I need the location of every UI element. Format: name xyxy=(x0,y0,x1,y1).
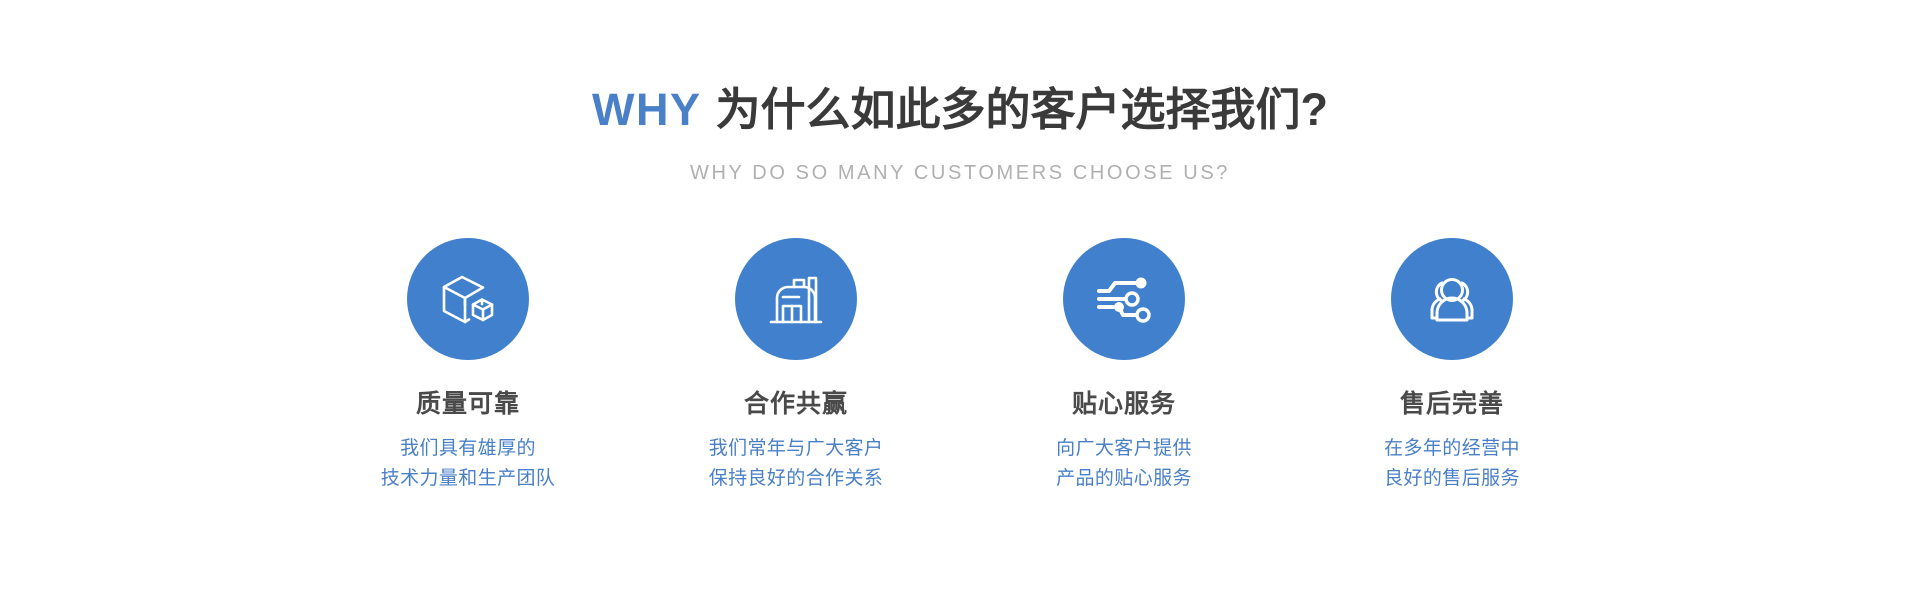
feature-desc-line-2: 良好的售后服务 xyxy=(1384,464,1520,494)
title-prefix-why: WHY xyxy=(592,84,702,135)
feature-title: 售后完善 xyxy=(1400,388,1504,420)
feature-desc-line-2: 保持良好的合作关系 xyxy=(709,464,884,494)
circuit-network-icon xyxy=(1091,266,1157,332)
feature-desc-line-2: 产品的贴心服务 xyxy=(1056,464,1192,494)
heading-block: WHY为什么如此多的客户选择我们? WHY DO SO MANY CUSTOME… xyxy=(0,82,1920,186)
feature-item-quality[interactable]: 质量可靠 我们具有雄厚的 技术力量和生产团队 xyxy=(304,238,632,494)
feature-desc-line-1: 我们具有雄厚的 xyxy=(381,434,556,464)
feature-description: 在多年的经营中 良好的售后服务 xyxy=(1384,434,1520,494)
feature-desc-line-1: 我们常年与广大客户 xyxy=(709,434,884,464)
page-title: WHY为什么如此多的客户选择我们? xyxy=(0,82,1920,138)
factory-icon xyxy=(763,266,829,332)
package-box-icon xyxy=(435,266,501,332)
feature-list: 质量可靠 我们具有雄厚的 技术力量和生产团队 xyxy=(260,238,1660,494)
title-chinese: 为什么如此多的客户选择我们? xyxy=(716,84,1329,135)
icon-circle-cooperation xyxy=(735,238,857,360)
feature-title: 合作共赢 xyxy=(744,388,848,420)
feature-description: 我们常年与广大客户 保持良好的合作关系 xyxy=(709,434,884,494)
feature-description: 我们具有雄厚的 技术力量和生产团队 xyxy=(381,434,556,494)
why-choose-us-section: WHY为什么如此多的客户选择我们? WHY DO SO MANY CUSTOME… xyxy=(0,0,1920,615)
users-group-icon xyxy=(1419,266,1485,332)
feature-item-service[interactable]: 贴心服务 向广大客户提供 产品的贴心服务 xyxy=(960,238,1288,494)
feature-title: 贴心服务 xyxy=(1072,388,1176,420)
feature-desc-line-1: 向广大客户提供 xyxy=(1056,434,1192,464)
icon-circle-after-sales xyxy=(1391,238,1513,360)
feature-desc-line-2: 技术力量和生产团队 xyxy=(381,464,556,494)
page-subtitle: WHY DO SO MANY CUSTOMERS CHOOSE US? xyxy=(0,160,1920,186)
feature-item-cooperation[interactable]: 合作共赢 我们常年与广大客户 保持良好的合作关系 xyxy=(632,238,960,494)
icon-circle-quality xyxy=(407,238,529,360)
icon-circle-service xyxy=(1063,238,1185,360)
feature-desc-line-1: 在多年的经营中 xyxy=(1384,434,1520,464)
feature-title: 质量可靠 xyxy=(416,388,520,420)
feature-description: 向广大客户提供 产品的贴心服务 xyxy=(1056,434,1192,494)
feature-item-after-sales[interactable]: 售后完善 在多年的经营中 良好的售后服务 xyxy=(1288,238,1616,494)
